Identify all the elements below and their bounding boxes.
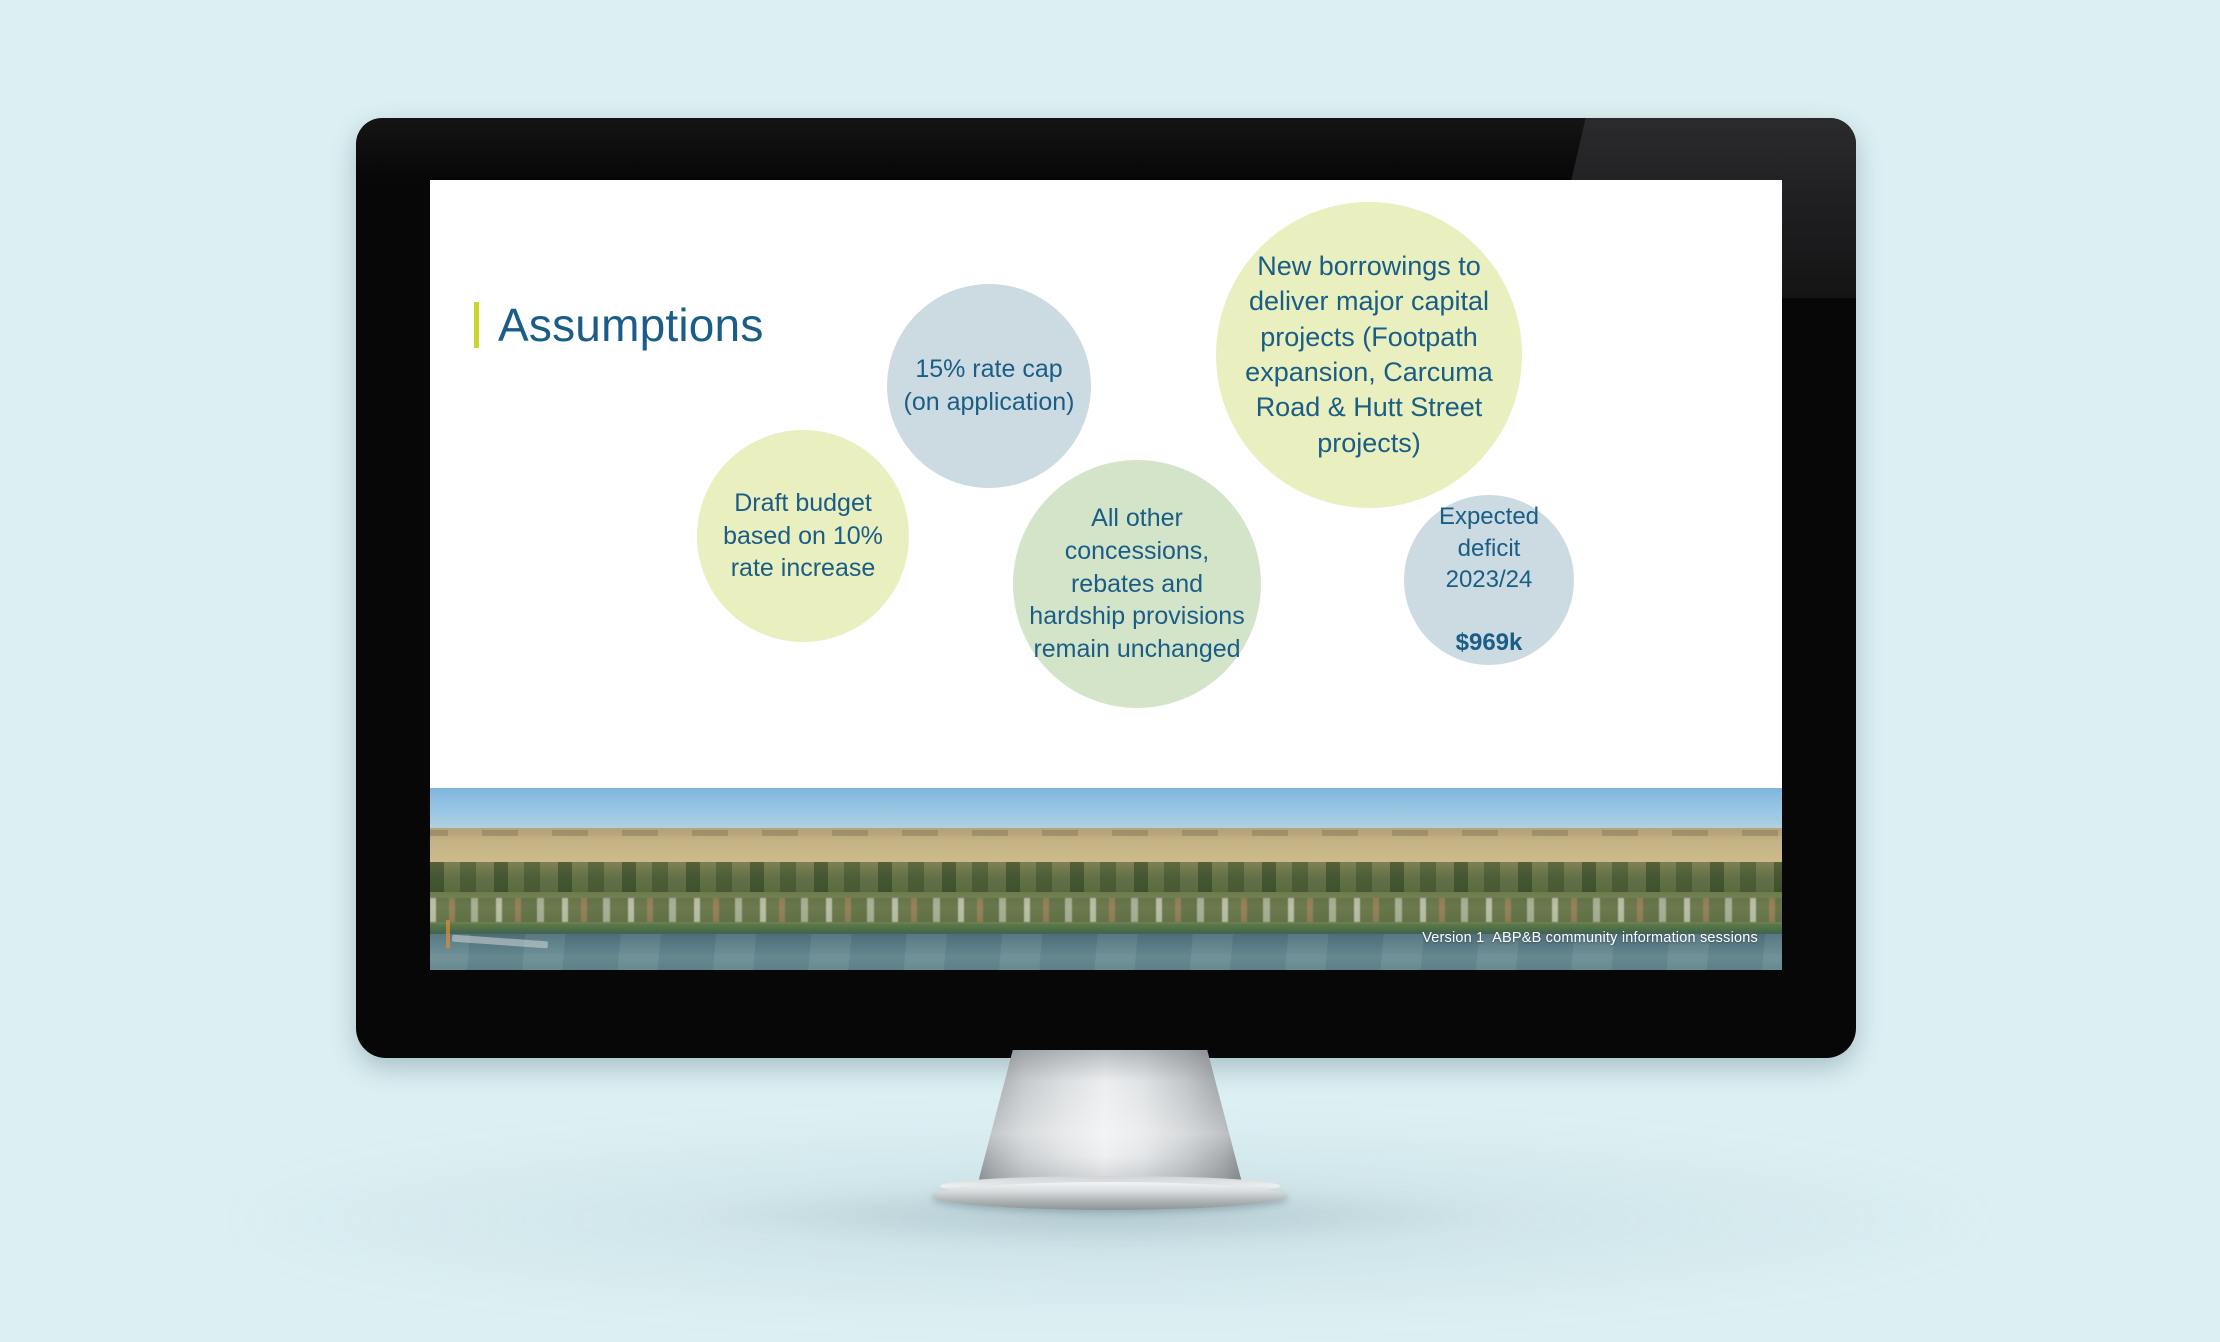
slide-footer: Version 1 ABP&B community information se… <box>1422 930 1758 946</box>
monitor-device: Assumptions 15% rate cap (on application… <box>356 118 1856 1058</box>
bubble-concessions: All other concessions, rebates and hards… <box>1013 460 1261 708</box>
photo-crane <box>446 920 450 948</box>
bubble-rate-cap: 15% rate cap (on application) <box>887 284 1091 488</box>
bubble-expected-deficit: Expected deficit 2023/24 $969k <box>1404 495 1574 665</box>
bubble-expected-deficit-label: Expected deficit 2023/24 <box>1412 501 1566 595</box>
title-accent-bar <box>474 302 479 348</box>
bubble-rate-cap-text: 15% rate cap (on application) <box>904 353 1075 419</box>
bubble-expected-deficit-amount: $969k <box>1412 627 1566 658</box>
bubble-draft-budget-text: Draft budget based on 10% rate increase <box>711 487 895 585</box>
bubble-concessions-text: All other concessions, rebates and hards… <box>1023 502 1251 666</box>
page-title: Assumptions <box>498 302 764 348</box>
bezel-top-highlight <box>356 118 1856 180</box>
monitor-screen: Assumptions 15% rate cap (on application… <box>430 180 1782 970</box>
photo-vegetation-belt <box>430 862 1782 896</box>
bubble-draft-budget: Draft budget based on 10% rate increase <box>697 430 909 642</box>
slide-title-group: Assumptions <box>474 302 764 348</box>
bubble-new-borrowings: New borrowings to deliver major capital … <box>1216 202 1522 508</box>
monitor-stand-base <box>932 1182 1288 1210</box>
bubble-new-borrowings-text: New borrowings to deliver major capital … <box>1242 249 1496 461</box>
monitor-stand-neck <box>975 1050 1245 1194</box>
bubble-expected-deficit-group: Expected deficit 2023/24 $969k <box>1412 470 1566 690</box>
